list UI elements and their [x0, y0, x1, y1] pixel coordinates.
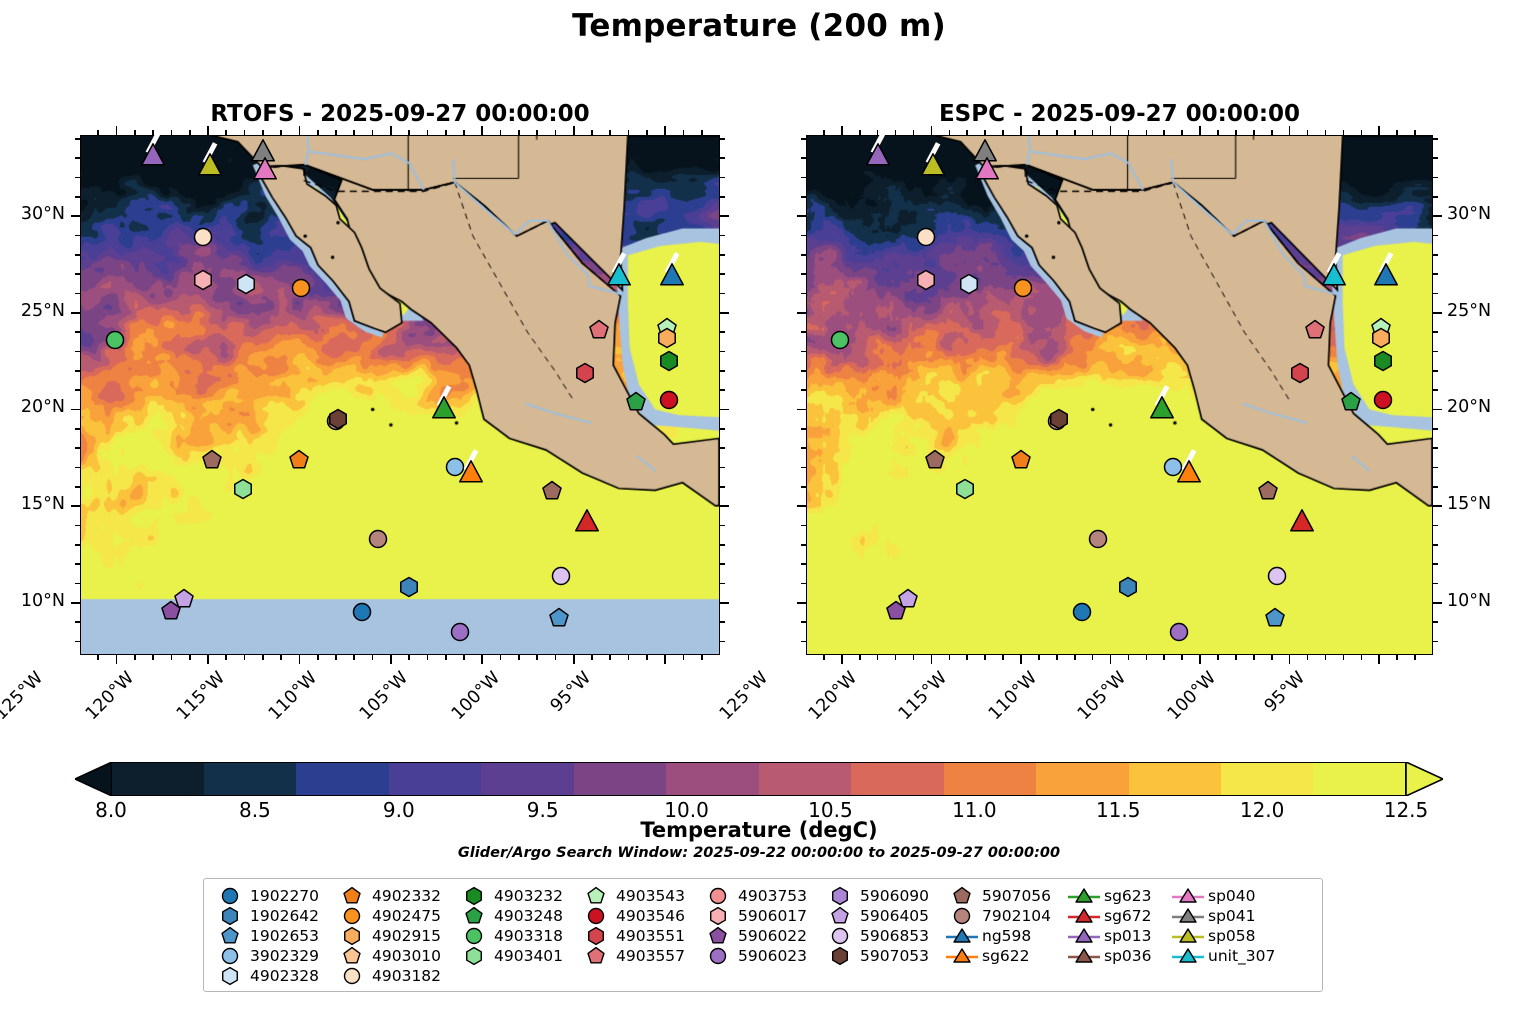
- colorbar-under-arrow: [75, 762, 112, 796]
- y-tick-minor: [1433, 235, 1438, 237]
- observation-marker-4903318[interactable]: [830, 329, 851, 350]
- x-tick-major: [841, 655, 843, 664]
- observation-marker-4903248[interactable]: [1340, 391, 1361, 412]
- observation-marker-4903182[interactable]: [916, 227, 937, 248]
- observation-marker-sp040[interactable]: [253, 158, 277, 182]
- colorbar-segment: [296, 762, 389, 796]
- legend-entry[interactable]: 7902104: [945, 906, 1067, 926]
- legend-column: sg623sg672sp013sp036: [1067, 886, 1171, 985]
- y-tick-minor: [1433, 196, 1438, 198]
- legend-marker-icon: [1067, 926, 1101, 946]
- legend-entry[interactable]: sg623: [1067, 886, 1171, 906]
- observation-marker-4903232[interactable]: [658, 351, 679, 372]
- legend-entry[interactable]: 4903010: [335, 946, 457, 966]
- x-tick-minor-top: [1414, 130, 1416, 135]
- colorbar-axis-label: Temperature (degC): [0, 818, 1518, 842]
- x-tick-minor: [1074, 655, 1076, 660]
- y-tick-minor-opp: [801, 273, 806, 275]
- y-tick-minor-opp: [720, 273, 725, 275]
- y-tick-minor-opp: [801, 351, 806, 353]
- legend-entry[interactable]: 4903182: [335, 966, 457, 986]
- x-tick-minor-top: [646, 130, 648, 135]
- y-tick-minor: [75, 138, 80, 140]
- observation-marker-5907056b[interactable]: [1258, 480, 1279, 501]
- x-tick-minor: [1253, 655, 1255, 660]
- x-tick-minor-top: [518, 130, 520, 135]
- y-tick-major: [71, 215, 80, 217]
- x-tick-minor-top: [463, 130, 465, 135]
- x-tick-minor: [1217, 655, 1219, 660]
- x-tick-minor: [1307, 655, 1309, 660]
- y-tick-minor-opp: [801, 467, 806, 469]
- colorbar-body: [111, 762, 1406, 796]
- y-tick-minor-opp: [801, 138, 806, 140]
- observation-marker-4902915[interactable]: [656, 327, 677, 348]
- y-tick-minor: [1433, 583, 1438, 585]
- observation-marker-sp040[interactable]: [975, 158, 999, 182]
- x-tick-major-top: [299, 126, 301, 135]
- x-tick-label: 125°W: [694, 668, 772, 746]
- observation-marker-4902328[interactable]: [236, 273, 257, 294]
- x-tick-minor: [555, 655, 557, 660]
- x-tick-major: [931, 655, 933, 664]
- y-tick-minor: [75, 196, 80, 198]
- x-tick-minor: [225, 655, 227, 660]
- legend-entry[interactable]: sp013: [1067, 926, 1171, 946]
- y-tick-minor-opp: [801, 447, 806, 449]
- x-tick-major-top: [116, 126, 118, 135]
- x-tick-major: [1378, 655, 1380, 664]
- x-tick-minor-top: [97, 130, 99, 135]
- legend-entry[interactable]: 5907056: [945, 886, 1067, 906]
- legend-column: 4903753590601759060225906023: [701, 886, 823, 985]
- observation-marker-4902332[interactable]: [289, 449, 310, 470]
- x-tick-minor: [1128, 655, 1130, 660]
- legend-entry-label: sg623: [1101, 887, 1152, 905]
- y-tick-label: 10°N: [1447, 591, 1518, 611]
- x-tick-major-top: [390, 126, 392, 135]
- x-tick-minor: [445, 655, 447, 660]
- legend-entry[interactable]: 4903318: [457, 926, 579, 946]
- legend-entry[interactable]: 3902329: [213, 946, 335, 966]
- x-tick-minor: [609, 655, 611, 660]
- x-tick-minor: [1343, 655, 1345, 660]
- x-tick-minor: [171, 655, 173, 660]
- observation-marker-5906853[interactable]: [1267, 565, 1288, 586]
- legend-entry-label: 4902475: [369, 907, 441, 925]
- legend-entry-label: 5906090: [857, 887, 929, 905]
- observation-marker-ng598[interactable]: [660, 264, 684, 288]
- colorbar-segment: [666, 762, 759, 796]
- x-tick-minor: [646, 655, 648, 660]
- y-tick-minor: [75, 525, 80, 527]
- x-tick-minor-top: [895, 130, 897, 135]
- legend-entry-label: 4903546: [613, 907, 685, 925]
- x-tick-label: 110°W: [243, 668, 321, 746]
- y-tick-minor-opp: [720, 196, 725, 198]
- observation-marker-5906022[interactable]: [885, 600, 906, 621]
- y-tick-label: 10°N: [0, 591, 65, 611]
- y-tick-minor: [75, 235, 80, 237]
- observation-marker-sg672[interactable]: [575, 510, 599, 534]
- legend-entry[interactable]: 5906017: [701, 906, 823, 926]
- y-tick-minor: [75, 157, 80, 159]
- observation-marker-ng598[interactable]: [1374, 264, 1398, 288]
- x-tick-major-top: [1110, 126, 1112, 135]
- x-tick-label: 105°W: [335, 668, 413, 746]
- legend-entry[interactable]: sp040: [1171, 886, 1283, 906]
- legend-entry-label: 1902642: [247, 907, 319, 925]
- observation-marker-sp058[interactable]: [198, 154, 222, 178]
- x-tick-minor-top: [683, 130, 685, 135]
- legend-marker-icon: [1171, 926, 1205, 946]
- observation-marker-sg622[interactable]: [1177, 461, 1201, 485]
- y-tick-major: [1433, 505, 1442, 507]
- legend-marker-icon: [823, 906, 857, 926]
- x-tick-minor: [1181, 655, 1183, 660]
- colorbar-segment: [1129, 762, 1222, 796]
- platform-legend[interactable]: 1902270190264219026533902329490232849023…: [203, 878, 1323, 992]
- legend-entry[interactable]: 4902328: [213, 966, 335, 986]
- y-tick-minor-opp: [801, 428, 806, 430]
- legend-column: 4903232490324849033184903401: [457, 886, 579, 985]
- legend-marker-icon: [335, 946, 369, 966]
- x-tick-major-top: [481, 126, 483, 135]
- x-tick-minor-top: [1146, 130, 1148, 135]
- x-tick-major: [299, 655, 301, 664]
- y-tick-minor: [1433, 177, 1438, 179]
- x-tick-minor: [628, 655, 630, 660]
- y-tick-label: 15°N: [1447, 494, 1518, 514]
- x-tick-minor: [1235, 655, 1237, 660]
- observation-marker-5907053[interactable]: [327, 409, 348, 430]
- observation-marker-unit_307[interactable]: [607, 264, 631, 288]
- colorbar-segment: [1036, 762, 1129, 796]
- observation-marker-unit_307[interactable]: [1322, 264, 1346, 288]
- legend-entry[interactable]: unit_307: [1171, 946, 1283, 966]
- y-tick-minor: [75, 467, 80, 469]
- x-tick-minor-top: [225, 130, 227, 135]
- colorbar-segment: [944, 762, 1037, 796]
- x-tick-minor-top: [1271, 130, 1273, 135]
- colorbar-segment: [574, 762, 667, 796]
- observation-marker-4903232[interactable]: [1372, 351, 1393, 372]
- legend-marker-icon: [823, 926, 857, 946]
- x-tick-minor-top: [823, 130, 825, 135]
- y-tick-minor-opp: [720, 583, 725, 585]
- y-tick-label: 25°N: [1447, 301, 1518, 321]
- legend-marker-icon: [945, 926, 979, 946]
- legend-entry[interactable]: 4903753: [701, 886, 823, 906]
- legend-entry-label: 3902329: [247, 947, 319, 965]
- y-tick-minor: [1433, 293, 1438, 295]
- x-tick-minor-top: [1343, 130, 1345, 135]
- x-tick-major-top: [931, 126, 933, 135]
- x-tick-major-top: [573, 126, 575, 135]
- x-tick-major: [1110, 655, 1112, 664]
- legend-entry[interactable]: 4903546: [579, 906, 701, 926]
- observation-marker-4902475[interactable]: [1012, 277, 1033, 298]
- y-tick-minor-opp: [720, 428, 725, 430]
- legend-entry[interactable]: 4903543: [579, 886, 701, 906]
- legend-marker-icon: [945, 946, 979, 966]
- observation-marker-4903546[interactable]: [658, 389, 679, 410]
- observation-marker-1902642[interactable]: [1118, 577, 1139, 598]
- legend-entry-label: 1902653: [247, 927, 319, 945]
- observation-marker-1902653[interactable]: [1265, 608, 1286, 629]
- legend-marker-icon: [823, 886, 857, 906]
- observation-marker-5906853[interactable]: [550, 565, 571, 586]
- legend-entry-label: 5907056: [979, 887, 1051, 905]
- y-tick-label: 15°N: [0, 494, 65, 514]
- observation-marker-sg672[interactable]: [1290, 510, 1314, 534]
- legend-entry-label: sp041: [1205, 907, 1256, 925]
- legend-marker-icon: [1171, 886, 1205, 906]
- colorbar: 8.08.59.09.510.010.511.011.512.012.5: [75, 762, 1442, 796]
- observation-marker-4903546[interactable]: [1372, 389, 1393, 410]
- y-tick-minor-opp: [720, 467, 725, 469]
- y-tick-minor-opp: [720, 486, 725, 488]
- x-tick-minor: [913, 655, 915, 660]
- x-tick-minor-top: [1056, 130, 1058, 135]
- y-tick-label: 25°N: [0, 301, 65, 321]
- x-tick-major: [1020, 655, 1022, 664]
- x-tick-minor: [1163, 655, 1165, 660]
- y-tick-minor: [1433, 544, 1438, 546]
- x-tick-minor: [280, 655, 282, 660]
- observation-marker-sg623[interactable]: [1150, 397, 1174, 421]
- observation-marker-4902915[interactable]: [1371, 327, 1392, 348]
- legend-column: 49023324902475490291549030104903182: [335, 886, 457, 985]
- observation-marker-4903551[interactable]: [574, 362, 595, 383]
- x-tick-minor-top: [984, 130, 986, 135]
- legend-entry-label: sp058: [1205, 927, 1256, 945]
- legend-entry-label: 5906023: [735, 947, 807, 965]
- observation-marker-5906023[interactable]: [450, 621, 471, 642]
- legend-marker-icon: [1171, 946, 1205, 966]
- y-tick-major-opp: [720, 312, 729, 314]
- y-tick-label: 30°N: [0, 204, 65, 224]
- x-tick-minor: [500, 655, 502, 660]
- x-tick-major-top: [664, 126, 666, 135]
- observation-marker-4903557[interactable]: [1304, 320, 1325, 341]
- x-tick-minor: [335, 655, 337, 660]
- observation-marker-4902475[interactable]: [291, 277, 312, 298]
- colorbar-segment: [851, 762, 944, 796]
- legend-entry[interactable]: 4903557: [579, 946, 701, 966]
- legend-entry-label: 5907053: [857, 947, 929, 965]
- x-tick-minor: [353, 655, 355, 660]
- observation-marker-5906022[interactable]: [161, 600, 182, 621]
- legend-entry[interactable]: 5906853: [823, 926, 945, 946]
- y-tick-minor-opp: [720, 351, 725, 353]
- x-tick-minor: [262, 655, 264, 660]
- y-tick-minor-opp: [801, 177, 806, 179]
- legend-entry[interactable]: sp041: [1171, 906, 1283, 926]
- y-tick-minor-opp: [801, 583, 806, 585]
- observation-marker-4902332[interactable]: [1010, 449, 1031, 470]
- observation-marker-1902270[interactable]: [1071, 602, 1092, 623]
- y-tick-major: [1433, 215, 1442, 217]
- y-tick-label: 20°N: [0, 397, 65, 417]
- observation-marker-4903557[interactable]: [589, 320, 610, 341]
- y-tick-major: [1433, 409, 1442, 411]
- observation-marker-4903182[interactable]: [192, 227, 213, 248]
- y-tick-minor: [1433, 351, 1438, 353]
- x-tick-minor: [877, 655, 879, 660]
- legend-entry-label: unit_307: [1205, 947, 1275, 965]
- legend-entry[interactable]: ng598: [945, 926, 1067, 946]
- x-tick-major: [207, 655, 209, 664]
- y-tick-minor: [75, 428, 80, 430]
- x-tick-major-top: [207, 126, 209, 135]
- y-tick-major: [71, 409, 80, 411]
- x-tick-minor-top: [536, 130, 538, 135]
- observation-marker-sp058[interactable]: [921, 154, 945, 178]
- x-tick-minor-top: [317, 130, 319, 135]
- y-tick-major: [1433, 602, 1442, 604]
- x-tick-minor: [1056, 655, 1058, 660]
- legend-entry[interactable]: sg622: [945, 946, 1067, 966]
- legend-entry[interactable]: 5906022: [701, 926, 823, 946]
- legend-entry-label: 4903318: [491, 927, 563, 945]
- legend-column: 19022701902642190265339023294902328: [213, 886, 335, 985]
- legend-entry[interactable]: 4902475: [335, 906, 457, 926]
- x-tick-minor-top: [966, 130, 968, 135]
- x-tick-major: [1289, 655, 1291, 664]
- legend-entry[interactable]: 4903551: [579, 926, 701, 946]
- legend-entry[interactable]: 1902642: [213, 906, 335, 926]
- y-tick-minor-opp: [720, 138, 725, 140]
- legend-marker-icon: [1067, 946, 1101, 966]
- legend-entry[interactable]: 5906023: [701, 946, 823, 966]
- y-tick-minor-opp: [801, 389, 806, 391]
- legend-entry-label: 4903543: [613, 887, 685, 905]
- observation-marker-4903401[interactable]: [955, 478, 976, 499]
- observation-marker-4902328[interactable]: [959, 273, 980, 294]
- x-tick-minor: [372, 655, 374, 660]
- legend-marker-icon: [335, 906, 369, 926]
- legend-marker-icon: [335, 886, 369, 906]
- legend-entry[interactable]: 5906090: [823, 886, 945, 906]
- legend-entry-label: 4903753: [735, 887, 807, 905]
- x-tick-label: 100°W: [426, 668, 504, 746]
- x-tick-major: [573, 655, 575, 664]
- y-tick-minor-opp: [720, 389, 725, 391]
- legend-entry[interactable]: 4903232: [457, 886, 579, 906]
- observation-marker-sp013[interactable]: [141, 144, 165, 168]
- y-tick-major-opp: [720, 505, 729, 507]
- observation-marker-7902104b[interactable]: [368, 529, 389, 550]
- x-tick-minor-top: [1235, 130, 1237, 135]
- x-tick-minor-top: [1038, 130, 1040, 135]
- y-tick-major: [71, 312, 80, 314]
- y-tick-minor: [75, 254, 80, 256]
- observation-marker-1902270[interactable]: [351, 602, 372, 623]
- observation-marker-4903401[interactable]: [232, 478, 253, 499]
- legend-entry[interactable]: 4902915: [335, 926, 457, 946]
- legend-marker-icon: [579, 926, 613, 946]
- legend-entry[interactable]: sp036: [1067, 946, 1171, 966]
- x-tick-minor-top: [427, 130, 429, 135]
- observation-marker-4903551[interactable]: [1290, 362, 1311, 383]
- legend-entry-label: 4902332: [369, 887, 441, 905]
- legend-marker-icon: [701, 946, 735, 966]
- y-tick-minor: [75, 177, 80, 179]
- x-tick-label: 105°W: [1052, 668, 1130, 746]
- legend-entry-label: 4902915: [369, 927, 441, 945]
- legend-entry[interactable]: 1902270: [213, 886, 335, 906]
- observation-marker-4903248[interactable]: [625, 391, 646, 412]
- y-tick-major-opp: [720, 215, 729, 217]
- x-tick-minor: [536, 655, 538, 660]
- legend-entry-label: 5906853: [857, 927, 929, 945]
- legend-entry[interactable]: sg672: [1067, 906, 1171, 926]
- y-tick-minor: [1433, 138, 1438, 140]
- legend-marker-icon: [335, 926, 369, 946]
- y-tick-major: [71, 602, 80, 604]
- y-tick-major: [1433, 312, 1442, 314]
- legend-entry[interactable]: 4902332: [335, 886, 457, 906]
- observation-marker-sp013[interactable]: [866, 144, 890, 168]
- legend-entry[interactable]: sp058: [1171, 926, 1283, 946]
- x-tick-minor-top: [1128, 130, 1130, 135]
- observation-marker-5907056[interactable]: [201, 449, 222, 470]
- observation-marker-5906023[interactable]: [1168, 621, 1189, 642]
- legend-marker-icon: [701, 886, 735, 906]
- legend-entry-label: 4903551: [613, 927, 685, 945]
- observation-marker-5907056[interactable]: [924, 449, 945, 470]
- x-tick-minor: [895, 655, 897, 660]
- observation-marker-1902653[interactable]: [549, 608, 570, 629]
- x-tick-major: [664, 655, 666, 664]
- observation-marker-7902104b[interactable]: [1088, 529, 1109, 550]
- legend-entry[interactable]: 4903401: [457, 946, 579, 966]
- x-tick-minor-top: [1181, 130, 1183, 135]
- legend-entry[interactable]: 4903248: [457, 906, 579, 926]
- observation-marker-4903318[interactable]: [104, 329, 125, 350]
- observation-marker-sg622[interactable]: [459, 461, 483, 485]
- observation-marker-5906017[interactable]: [192, 269, 213, 290]
- legend-entry[interactable]: 5907053: [823, 946, 945, 966]
- x-tick-minor-top: [1361, 130, 1363, 135]
- observation-marker-1902642[interactable]: [399, 577, 420, 598]
- y-tick-minor-opp: [720, 641, 725, 643]
- legend-entry[interactable]: 5906405: [823, 906, 945, 926]
- y-tick-minor-opp: [801, 196, 806, 198]
- x-tick-minor: [984, 655, 986, 660]
- x-tick-minor: [1396, 655, 1398, 660]
- observation-marker-5907056b[interactable]: [541, 480, 562, 501]
- observation-marker-5907053[interactable]: [1048, 409, 1069, 430]
- y-tick-major-opp: [797, 409, 806, 411]
- legend-marker-icon: [213, 926, 247, 946]
- observation-marker-sg623[interactable]: [432, 397, 456, 421]
- x-tick-minor-top: [189, 130, 191, 135]
- x-tick-minor-top: [1396, 130, 1398, 135]
- y-tick-minor: [1433, 428, 1438, 430]
- legend-column: 59070567902104ng598sg622: [945, 886, 1067, 985]
- y-tick-minor-opp: [720, 447, 725, 449]
- x-tick-label: 115°W: [152, 668, 230, 746]
- legend-entry[interactable]: 1902653: [213, 926, 335, 946]
- y-tick-major-opp: [797, 215, 806, 217]
- observation-marker-5906017[interactable]: [916, 269, 937, 290]
- y-tick-minor: [75, 544, 80, 546]
- legend-marker-icon: [701, 926, 735, 946]
- y-tick-minor-opp: [720, 544, 725, 546]
- y-tick-minor-opp: [720, 177, 725, 179]
